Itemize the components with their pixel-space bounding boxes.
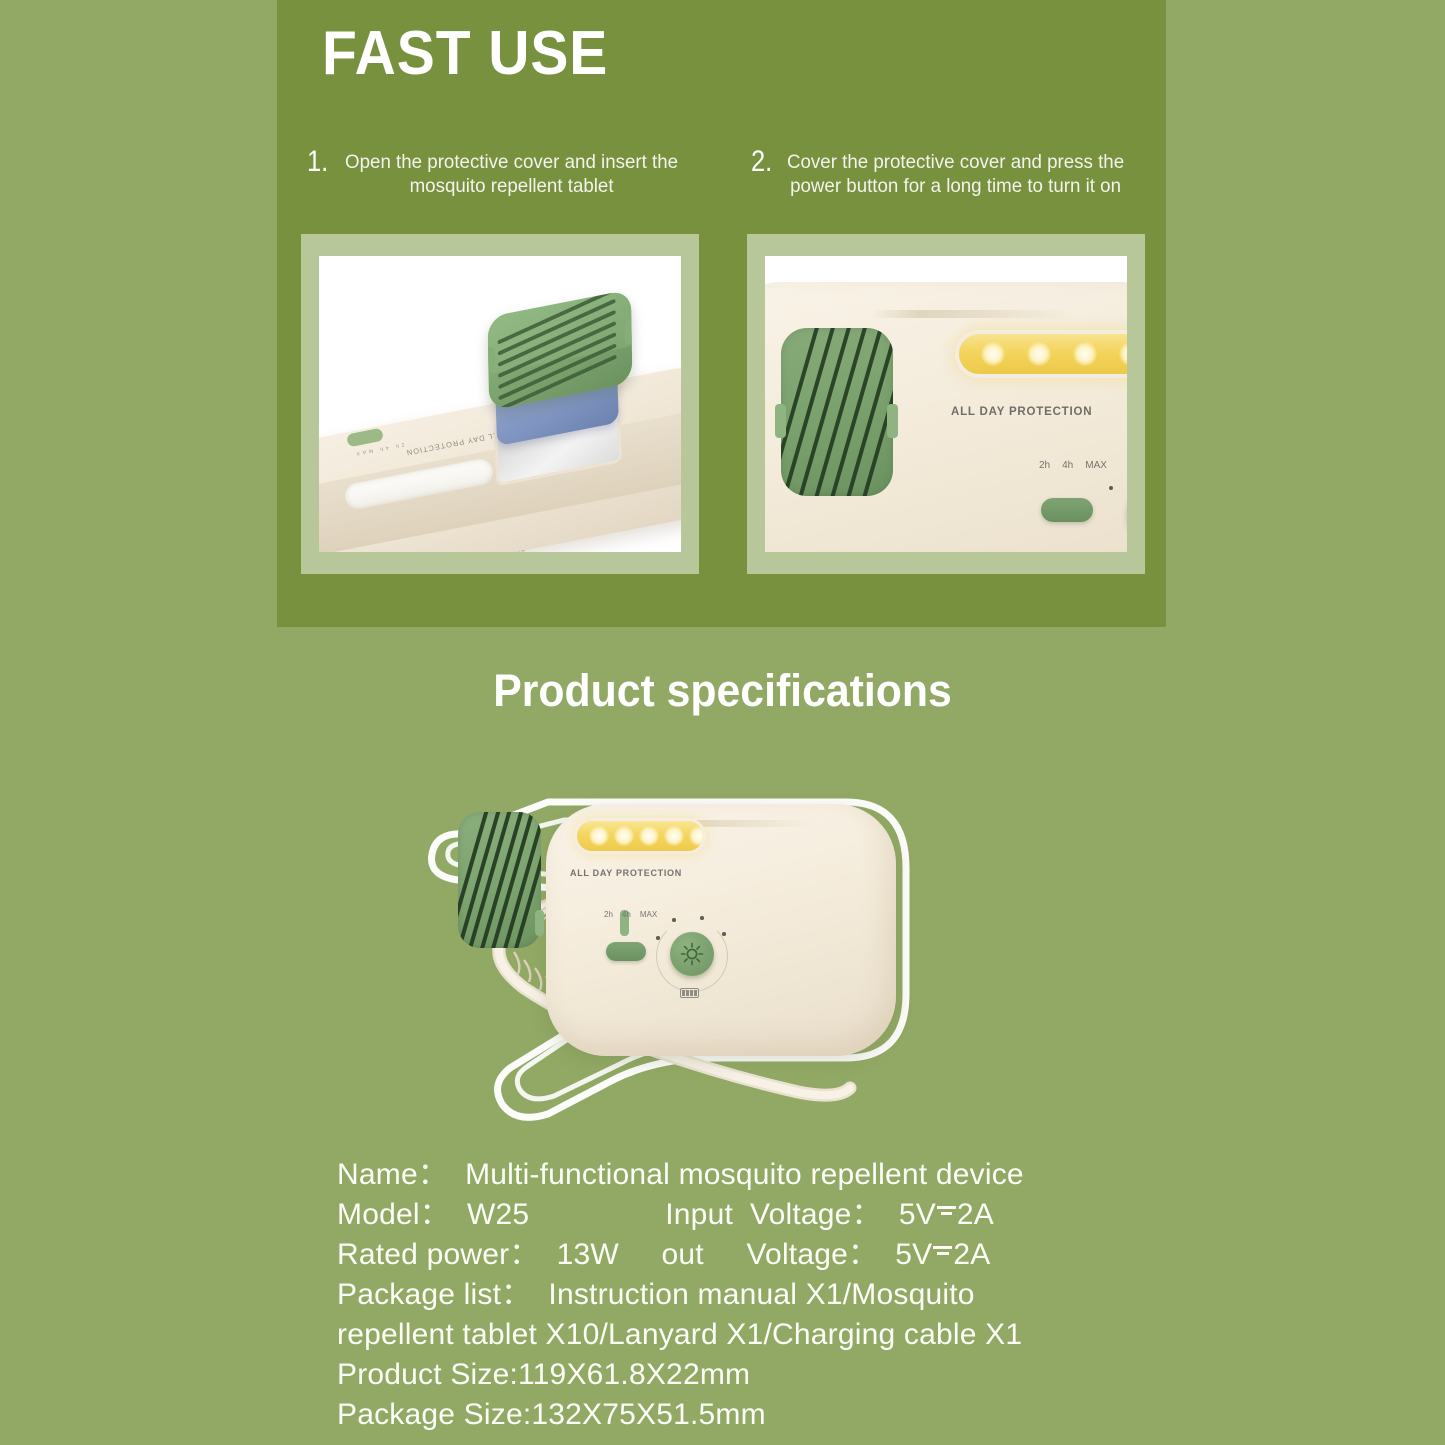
cover-tab (488, 346, 496, 373)
spec-row-model-input: Model： W25Input Voltage： 5V2A (337, 1195, 1337, 1235)
brand-label: ALL DAY PROTECTION (951, 406, 1092, 418)
spec-input-voltage: Input Voltage： 5V (665, 1198, 936, 1231)
step-2-photo: ALL DAY PROTECTION 2h 4h MAX (765, 256, 1127, 552)
repellent-vent-cover (781, 328, 893, 496)
page-title: FAST USE (322, 18, 608, 89)
mode-max-label: MAX (1085, 460, 1107, 471)
mode-max: MAX (1085, 460, 1107, 471)
spec-row-power-output: Rated power： 13W out Voltage： 5V2A (337, 1235, 1337, 1275)
step-2: 2. Cover the protective cover and press … (743, 148, 1159, 198)
power-button (670, 932, 714, 976)
specifications-text: Name： Multi-functional mosquito repellen… (337, 1155, 1337, 1435)
step-1-text: 1. Open the protective cover and insert … (299, 148, 715, 198)
mode-4h-label: 4h (622, 910, 631, 919)
step-1-photo: 2h 4h MAX ALL DAY PROTECTION USB OUT (319, 256, 681, 552)
mode-2h: 2h (604, 910, 613, 919)
step-1: 1. Open the protective cover and insert … (299, 148, 715, 198)
led-bulb (689, 826, 706, 846)
led-bulb (614, 826, 634, 846)
spec-output-amps: 2A (953, 1238, 990, 1271)
step-2-photo-frame: ALL DAY PROTECTION 2h 4h MAX (747, 234, 1145, 574)
led-light-strip (574, 818, 706, 854)
cover-tab (625, 319, 633, 346)
step-1-photo-frame: 2h 4h MAX ALL DAY PROTECTION USB OUT (301, 234, 699, 574)
mode-2h: 2h (1039, 460, 1050, 471)
dc-current-icon (933, 1246, 952, 1255)
sun-icon (680, 942, 704, 966)
vent-tab-left (535, 910, 544, 936)
led-bulb (1119, 342, 1127, 366)
spec-input-amps: 2A (957, 1198, 994, 1231)
spec-row-package-list-cont: repellent tablet X10/Lanyard X1/Charging… (337, 1315, 1337, 1355)
mode-indicators: 2h 4h MAX (1039, 460, 1107, 471)
brand-label: ALL DAY PROTECTION (570, 868, 682, 878)
led-bulb (664, 826, 684, 846)
mode-2h-label: 2h (604, 910, 613, 919)
vent-tab-right (887, 404, 898, 438)
led-bulb (1027, 342, 1051, 366)
spec-row-product-size: Product Size:119X61.8X22mm (337, 1355, 1337, 1395)
mode-button (1041, 498, 1093, 522)
steps-row: 1. Open the protective cover and insert … (299, 148, 1159, 198)
fast-use-panel: FAST USE 1. Open the protective cover an… (277, 0, 1166, 627)
led-bulb (589, 826, 609, 846)
mode-4h: 4h (1062, 460, 1073, 471)
spec-model: Model： W25 (337, 1198, 529, 1231)
dc-current-icon (937, 1206, 956, 1215)
mode-max: MAX (640, 910, 657, 919)
spec-row-name: Name： Multi-functional mosquito repellen… (337, 1155, 1337, 1195)
vent-tab-left (775, 404, 786, 438)
battery-indicator (680, 988, 699, 998)
led-bulb (981, 342, 1005, 366)
mode-4h: 4h (622, 910, 631, 919)
spec-row-package-list: Package list： Instruction manual X1/Mosq… (337, 1275, 1337, 1315)
led-bulb (639, 826, 659, 846)
spec-rated-power: Rated power： 13W out Voltage： 5V (337, 1238, 932, 1271)
mode-button (606, 942, 646, 961)
mode-4h-label: 4h (1062, 460, 1073, 471)
mode-2h-label: 2h (1039, 460, 1050, 471)
step-1-description: Open the protective cover and insert the… (333, 148, 690, 198)
hero-product-image: ALL DAY PROTECTION 2h 4h MAX (398, 762, 1018, 1144)
step-2-text: 2. Cover the protective cover and press … (743, 148, 1159, 198)
step-2-description: Cover the protective cover and press the… (777, 148, 1134, 198)
specifications-heading: Product specifications (36, 665, 1409, 717)
device-top-seam (871, 310, 1071, 318)
spec-row-package-size: Package Size:132X75X51.5mm (337, 1395, 1337, 1435)
step-1-number: 1. (307, 148, 328, 176)
mode-indicators: 2h 4h MAX (604, 910, 657, 919)
vent-slat (781, 328, 821, 496)
led-bulb (1073, 342, 1097, 366)
step-2-number: 2. (751, 148, 772, 176)
mode-max-label: MAX (640, 910, 657, 919)
led-light-strip (955, 330, 1127, 378)
repellent-vent-cover (458, 812, 541, 948)
